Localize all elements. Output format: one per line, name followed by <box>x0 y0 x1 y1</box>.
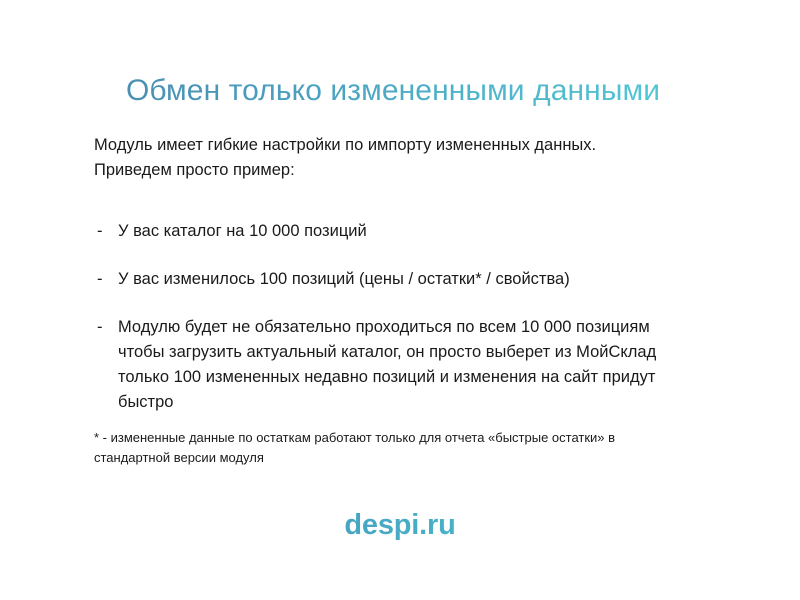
footer-logo: despi.ru <box>0 509 800 542</box>
list-item: - Модулю будет не обязательно проходитьс… <box>94 315 683 415</box>
bullet-dash-icon: - <box>97 267 103 292</box>
list-item-label: Модулю будет не обязательно проходиться … <box>118 318 656 411</box>
slide-body: Модуль имеет гибкие настройки по импорту… <box>94 133 714 415</box>
list-item-label: У вас каталог на 10 000 позиций <box>118 222 367 240</box>
page-title: Обмен только измененными данными <box>126 72 726 110</box>
bullet-list: - У вас каталог на 10 000 позиций - У ва… <box>94 219 714 415</box>
slide-canvas: Обмен только измененными данными Модуль … <box>0 0 800 600</box>
footnote-text: * - измененные данные по остаткам работа… <box>94 428 664 468</box>
intro-paragraph: Модуль имеет гибкие настройки по импорту… <box>94 133 639 183</box>
bullet-dash-icon: - <box>97 219 103 244</box>
bullet-dash-icon: - <box>97 315 103 340</box>
list-item: - У вас каталог на 10 000 позиций <box>94 219 714 244</box>
list-item: - У вас изменилось 100 позиций (цены / о… <box>94 267 714 292</box>
list-item-label: У вас изменилось 100 позиций (цены / ост… <box>118 270 570 288</box>
